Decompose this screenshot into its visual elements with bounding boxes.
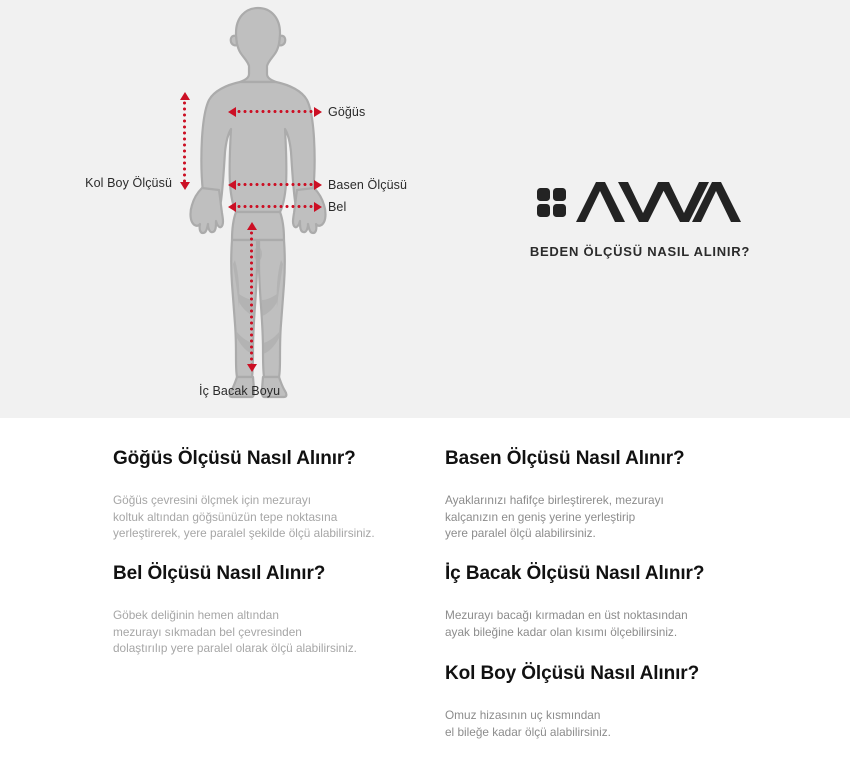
- dotted-line-horizontal: [236, 183, 316, 186]
- arrow-up-icon: [180, 92, 190, 100]
- avva-logo: [430, 180, 850, 224]
- measurement-label-kol-boy: Kol Boy Ölçüsü: [0, 176, 172, 190]
- faq-item-basen: Basen Ölçüsü Nasıl Alınır? Ayaklarınızı …: [445, 448, 775, 542]
- brand-subtitle: BEDEN ÖLÇÜSÜ NASIL ALINIR?: [430, 244, 850, 259]
- measurement-annotations: Kol Boy Ölçüsü Göğüs Basen Ölçüsü: [0, 0, 430, 418]
- faq-title: Göğüs Ölçüsü Nasıl Alınır?: [113, 448, 433, 470]
- faq-body: Omuz hizasının uç kısmından el bileğe ka…: [445, 707, 775, 740]
- arrow-left-icon: [228, 180, 236, 190]
- dotted-line-vertical: [250, 230, 253, 364]
- arrow-right-icon: [314, 180, 322, 190]
- faq-item-gogus: Göğüs Ölçüsü Nasıl Alınır? Göğüs çevresi…: [113, 448, 433, 542]
- faq-body: Göğüs çevresini ölçmek için mezurayı kol…: [113, 492, 433, 542]
- brand-block: BEDEN ÖLÇÜSÜ NASIL ALINIR?: [430, 0, 850, 418]
- measurement-label-basen: Basen Ölçüsü: [328, 178, 407, 192]
- arrow-right-icon: [314, 202, 322, 212]
- faq-body: Göbek deliğinin hemen altından mezurayı …: [113, 607, 433, 657]
- faq-title: İç Bacak Ölçüsü Nasıl Alınır?: [445, 563, 775, 585]
- arrow-down-icon: [180, 182, 190, 190]
- faq-body: Mezurayı bacağı kırmadan en üst noktasın…: [445, 607, 775, 640]
- faq-body: Ayaklarınızı hafifçe birleştirerek, mezu…: [445, 492, 775, 542]
- measurement-label-ic-bacak: İç Bacak Boyu: [199, 384, 280, 398]
- faq-item-bel: Bel Ölçüsü Nasıl Alınır? Göbek deliğinin…: [113, 563, 433, 657]
- arrow-left-icon: [228, 107, 236, 117]
- dotted-line-vertical: [183, 100, 186, 182]
- dotted-line-horizontal: [236, 110, 316, 113]
- figure-stage: Kol Boy Ölçüsü Göğüs Basen Ölçüsü: [0, 0, 430, 418]
- arrow-right-icon: [314, 107, 322, 117]
- faq-title: Bel Ölçüsü Nasıl Alınır?: [113, 563, 433, 585]
- faq-title: Basen Ölçüsü Nasıl Alınır?: [445, 448, 775, 470]
- avva-wordmark-icon: [574, 180, 744, 224]
- size-guide-page: Kol Boy Ölçüsü Göğüs Basen Ölçüsü: [0, 0, 850, 775]
- arrow-down-icon: [247, 364, 257, 372]
- dotted-line-horizontal: [236, 205, 316, 208]
- avva-wordmark: [574, 180, 744, 224]
- arrow-left-icon: [228, 202, 236, 212]
- faq-item-ic-bacak: İç Bacak Ölçüsü Nasıl Alınır? Mezurayı b…: [445, 563, 775, 640]
- avva-four-squares-logo-icon: [537, 188, 566, 217]
- faq-panel: Göğüs Ölçüsü Nasıl Alınır? Göğüs çevresi…: [0, 418, 850, 775]
- faq-item-kol-boy: Kol Boy Ölçüsü Nasıl Alınır? Omuz hizası…: [445, 663, 775, 740]
- arrow-up-icon: [247, 222, 257, 230]
- measurement-label-bel: Bel: [328, 200, 346, 214]
- measurement-label-gogus: Göğüs: [328, 105, 365, 119]
- top-illustration-panel: Kol Boy Ölçüsü Göğüs Basen Ölçüsü: [0, 0, 850, 418]
- faq-title: Kol Boy Ölçüsü Nasıl Alınır?: [445, 663, 775, 685]
